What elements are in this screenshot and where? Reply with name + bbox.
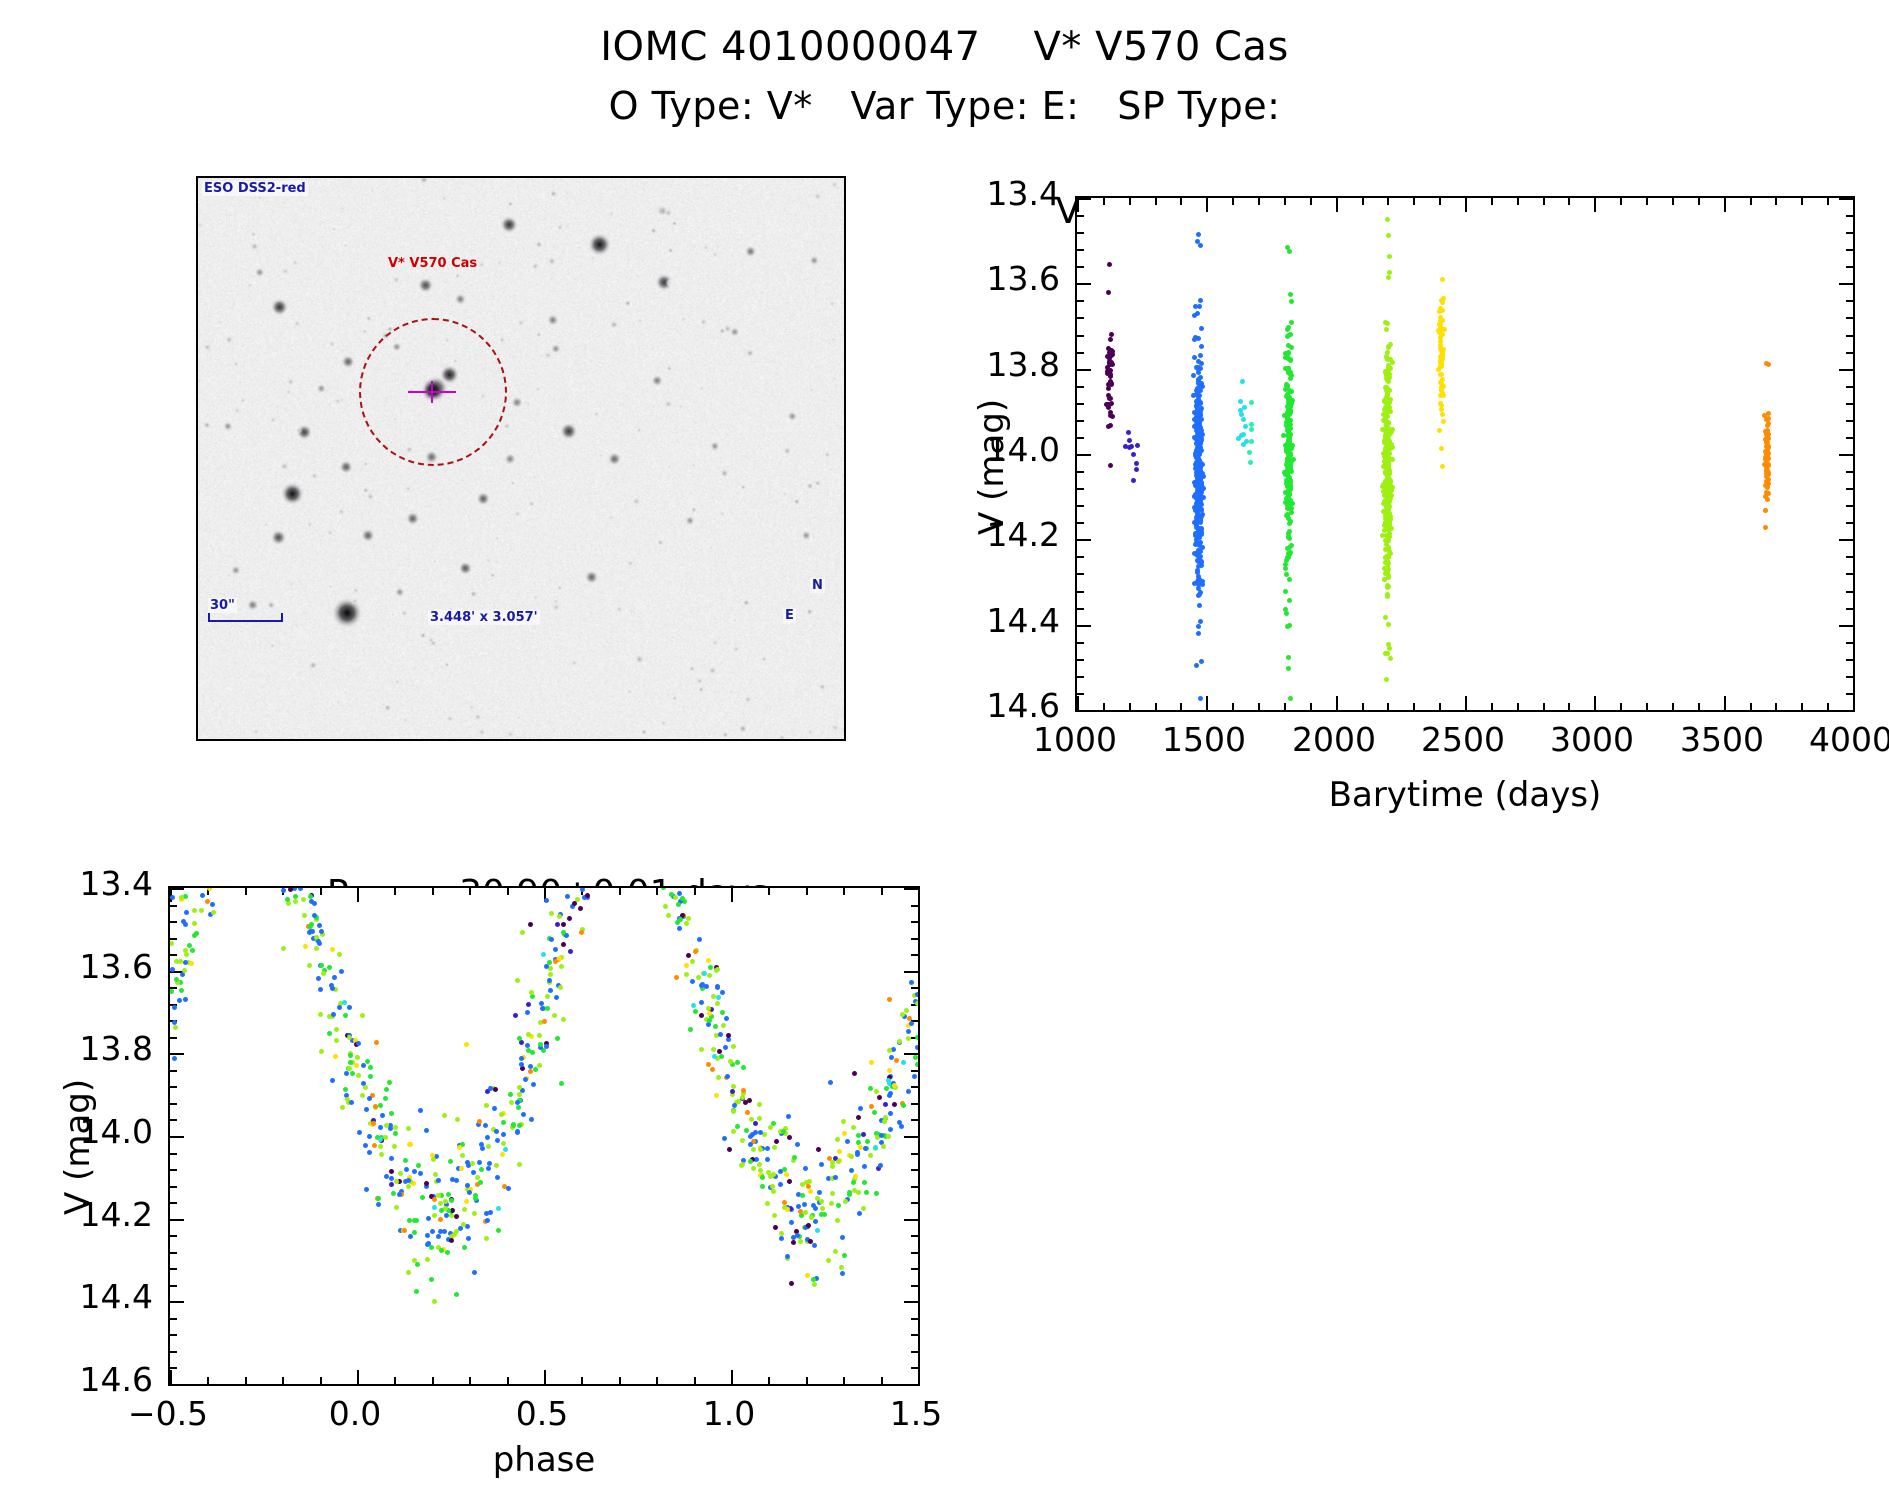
data-point <box>460 1153 465 1158</box>
data-point <box>1286 499 1291 504</box>
data-point <box>811 1203 816 1208</box>
data-point <box>455 1117 460 1122</box>
data-point <box>1134 461 1139 466</box>
data-point <box>787 1179 792 1184</box>
data-point <box>906 1036 911 1041</box>
time-series-x-minor-tick <box>1413 198 1415 205</box>
data-point <box>1134 467 1139 472</box>
data-point <box>424 1128 429 1133</box>
phase-plot-y-minor-tick <box>170 1318 177 1320</box>
time-series-x-tick <box>1853 198 1855 212</box>
data-point <box>170 895 175 900</box>
phase-plot-x-minor-tick <box>469 888 471 895</box>
data-point <box>393 1131 398 1136</box>
data-point <box>1440 412 1445 417</box>
data-point <box>449 1198 454 1203</box>
phase-plot-y-minor-tick <box>911 1252 918 1254</box>
phase-plot-y-tick <box>170 1136 184 1138</box>
data-point <box>696 975 701 980</box>
time-series-y-minor-tick <box>1846 335 1853 337</box>
data-point <box>1387 646 1392 651</box>
phase-plot-x-minor-tick <box>768 1377 770 1384</box>
data-point <box>378 1144 383 1149</box>
data-point <box>1439 446 1444 451</box>
data-point <box>1439 403 1444 408</box>
data-point <box>169 941 174 946</box>
time-series-y-minor-tick <box>1846 386 1853 388</box>
data-point <box>835 1137 840 1142</box>
phase-plot-y-minor-tick <box>911 921 918 923</box>
data-point <box>580 887 585 892</box>
data-point <box>426 1216 431 1221</box>
phase-plot-y-minor-tick <box>911 1186 918 1188</box>
data-point <box>337 1005 342 1010</box>
data-point <box>519 1056 524 1061</box>
data-point <box>1249 400 1254 405</box>
data-point <box>1198 696 1203 701</box>
data-point <box>791 1240 796 1245</box>
data-point <box>735 1124 740 1129</box>
data-point <box>869 1104 874 1109</box>
phase-plot-x-tick <box>731 888 733 902</box>
data-point <box>741 1065 746 1070</box>
time-series-x-minor-tick <box>1620 198 1622 205</box>
data-point <box>841 1119 846 1124</box>
data-point <box>1286 666 1291 671</box>
data-point <box>380 1113 385 1118</box>
phase-plot-y-tick-label: 14.4 <box>0 1277 153 1316</box>
data-point <box>716 995 721 1000</box>
data-point <box>1386 426 1391 431</box>
data-point <box>493 1087 498 1092</box>
time-series-plot-area[interactable] <box>1075 196 1855 712</box>
data-point <box>1241 417 1246 422</box>
data-point <box>1197 424 1202 429</box>
data-point <box>861 1132 866 1137</box>
data-point <box>484 1211 489 1216</box>
data-point <box>753 1130 758 1135</box>
data-point <box>398 1171 403 1176</box>
data-point <box>827 1156 832 1161</box>
data-point <box>318 1012 323 1017</box>
data-point <box>472 1270 477 1275</box>
data-point <box>807 1179 812 1184</box>
data-point <box>312 913 317 918</box>
data-point <box>184 952 189 957</box>
data-point <box>773 1225 778 1230</box>
data-point <box>553 947 558 952</box>
data-point <box>180 972 185 977</box>
data-point <box>765 1201 770 1206</box>
time-series-y-minor-tick <box>1846 573 1853 575</box>
data-point <box>748 1134 753 1139</box>
time-series-x-minor-tick <box>1698 198 1700 205</box>
data-point <box>444 1213 449 1218</box>
data-point <box>878 1163 883 1168</box>
data-point <box>293 899 298 904</box>
time-series-x-minor-tick <box>1750 198 1752 205</box>
data-point <box>901 1103 906 1108</box>
data-point <box>183 894 188 899</box>
data-point <box>454 1178 459 1183</box>
time-series-y-minor-tick <box>1846 300 1853 302</box>
data-point <box>686 953 691 958</box>
time-series-y-minor-tick <box>1846 693 1853 695</box>
data-point <box>1126 430 1131 435</box>
data-point <box>192 921 197 926</box>
data-point <box>1249 422 1254 427</box>
data-point <box>450 1177 455 1182</box>
phase-plot-x-minor-tick <box>432 1377 434 1384</box>
phase-plot-y-minor-tick <box>911 1070 918 1072</box>
data-point <box>707 1011 712 1016</box>
data-point <box>874 1191 879 1196</box>
data-point <box>348 1060 353 1065</box>
data-point <box>432 1205 437 1210</box>
time-series-y-minor-tick <box>1077 608 1084 610</box>
phase-plot-y-minor-tick <box>170 1169 177 1171</box>
time-series-x-minor-tick <box>1491 198 1493 205</box>
phase-plot-y-tick-label: 14.6 <box>0 1360 153 1399</box>
data-point <box>1199 659 1204 664</box>
time-series-x-minor-tick <box>1646 198 1648 205</box>
data-point <box>509 1100 514 1105</box>
phase-plot-x-tick-label: 0.5 <box>462 1394 622 1433</box>
data-point <box>354 1063 359 1068</box>
data-point <box>199 908 204 913</box>
data-point <box>552 1013 557 1018</box>
data-point <box>1198 243 1203 248</box>
data-point <box>561 1017 566 1022</box>
data-point <box>1384 327 1389 332</box>
data-point <box>1197 526 1202 531</box>
data-point <box>541 952 546 957</box>
data-point <box>1192 313 1197 318</box>
data-point <box>1437 428 1442 433</box>
data-point <box>853 1174 858 1179</box>
data-point <box>408 1234 413 1239</box>
data-point <box>330 1078 335 1083</box>
data-point <box>751 1166 756 1171</box>
phase-plot-area[interactable] <box>168 886 920 1386</box>
data-point <box>757 1116 762 1121</box>
data-point <box>415 1262 420 1267</box>
data-point <box>805 1273 810 1278</box>
data-point <box>840 1235 845 1240</box>
data-point <box>1196 631 1201 636</box>
phase-plot-x-tick <box>357 1370 359 1384</box>
phase-plot-y-tick-label: 14.2 <box>0 1195 153 1234</box>
data-point <box>542 1019 547 1024</box>
data-point <box>819 1162 824 1167</box>
data-point <box>501 1132 506 1137</box>
data-point <box>865 1139 870 1144</box>
data-point <box>1439 361 1444 366</box>
data-point <box>350 1071 355 1076</box>
data-point <box>1388 656 1393 661</box>
phase-plot-x-minor-tick <box>469 1377 471 1384</box>
data-point <box>707 973 712 978</box>
data-point <box>1385 217 1390 222</box>
time-series-x-tick <box>1465 696 1467 710</box>
data-point <box>499 1112 504 1117</box>
data-point <box>706 1022 711 1027</box>
phase-plot-y-tick <box>904 1219 918 1221</box>
data-point <box>1380 427 1385 432</box>
data-point <box>868 1153 873 1158</box>
time-series-y-minor-tick <box>1077 471 1084 473</box>
data-point <box>521 1112 526 1117</box>
time-series-x-minor-tick <box>1232 703 1234 710</box>
data-point <box>343 1087 348 1092</box>
data-point <box>1240 379 1245 384</box>
data-point <box>1286 555 1291 560</box>
data-point <box>760 1175 765 1180</box>
data-point <box>531 1082 536 1087</box>
data-point <box>748 1159 753 1164</box>
data-point <box>347 1005 352 1010</box>
data-point <box>503 1147 508 1152</box>
data-point <box>828 1080 833 1085</box>
data-point <box>1129 444 1134 449</box>
data-point <box>1285 624 1290 629</box>
time-series-x-minor-tick <box>1284 198 1286 205</box>
data-point <box>172 1056 177 1061</box>
data-point <box>393 1125 398 1130</box>
data-point <box>877 1095 882 1100</box>
data-point <box>412 1230 417 1235</box>
data-point <box>478 1180 483 1185</box>
data-point <box>1198 353 1203 358</box>
data-point <box>526 1002 531 1007</box>
phase-plot-x-minor-tick <box>768 888 770 895</box>
data-point <box>555 1036 560 1041</box>
phase-plot-x-minor-tick <box>694 888 696 895</box>
data-point <box>436 1193 441 1198</box>
data-point <box>1193 304 1198 309</box>
time-series-y-minor-tick <box>1846 232 1853 234</box>
data-point <box>1243 424 1248 429</box>
data-point <box>360 1013 365 1018</box>
data-point <box>1285 546 1290 551</box>
data-point <box>757 1162 762 1167</box>
data-point <box>798 1239 803 1244</box>
time-series-y-minor-tick <box>1077 232 1084 234</box>
data-point <box>836 1203 841 1208</box>
data-point <box>449 1213 454 1218</box>
time-series-y-minor-tick <box>1077 573 1084 575</box>
data-point <box>795 1142 800 1147</box>
data-point <box>813 1219 818 1224</box>
data-point <box>808 1189 813 1194</box>
data-point <box>363 1143 368 1148</box>
data-point <box>906 1029 911 1034</box>
time-series-x-minor-tick <box>1310 198 1312 205</box>
data-point <box>288 887 293 892</box>
phase-plot-x-minor-tick <box>619 888 621 895</box>
data-point <box>372 1143 377 1148</box>
phase-plot-x-axis-label: phase <box>168 1440 920 1480</box>
phase-plot-y-minor-tick <box>911 954 918 956</box>
data-point <box>525 1010 530 1015</box>
time-series-x-minor-tick <box>1801 703 1803 710</box>
time-series-x-tick <box>1077 198 1079 212</box>
data-point <box>472 1211 477 1216</box>
data-point <box>515 1100 520 1105</box>
data-point <box>1192 435 1197 440</box>
data-point <box>515 978 520 983</box>
data-point <box>374 1040 379 1045</box>
phase-plot-x-minor-tick <box>245 1377 247 1384</box>
data-point <box>1127 438 1132 443</box>
data-point <box>1106 424 1111 429</box>
data-point <box>1288 550 1293 555</box>
data-point <box>1763 508 1768 513</box>
phase-plot-y-minor-tick <box>170 1070 177 1072</box>
data-point <box>888 1111 893 1116</box>
data-point <box>693 949 698 954</box>
data-point <box>710 1067 715 1072</box>
phase-plot-y-tick <box>904 1384 918 1386</box>
data-point <box>1389 488 1394 493</box>
data-point <box>1386 464 1391 469</box>
data-point <box>1197 603 1202 608</box>
data-point <box>501 1120 506 1125</box>
data-point <box>1386 344 1391 349</box>
time-series-x-tick <box>1077 696 1079 710</box>
data-point <box>864 1190 869 1195</box>
data-point <box>803 1210 808 1215</box>
data-point <box>883 1102 888 1107</box>
data-point <box>337 952 342 957</box>
data-point <box>533 1067 538 1072</box>
data-point <box>557 956 562 961</box>
data-point <box>1288 292 1293 297</box>
data-point <box>915 1035 920 1040</box>
data-point <box>470 1161 475 1166</box>
time-series-x-minor-tick <box>1491 703 1493 710</box>
data-point <box>857 1211 862 1216</box>
data-point <box>663 904 668 909</box>
phase-plot-y-tick <box>904 1136 918 1138</box>
phase-plot-y-minor-tick <box>911 987 918 989</box>
phase-plot-y-minor-tick <box>170 1285 177 1287</box>
data-point <box>1387 531 1392 536</box>
data-point <box>887 997 892 1002</box>
time-series-x-minor-tick <box>1672 703 1674 710</box>
data-point <box>862 1180 867 1185</box>
data-point <box>1764 444 1769 449</box>
time-series-x-minor-tick <box>1180 198 1182 205</box>
phase-plot-y-minor-tick <box>911 1153 918 1155</box>
data-point <box>517 1036 522 1041</box>
data-point <box>544 898 549 903</box>
time-series-y-minor-tick <box>1846 659 1853 661</box>
data-point <box>863 1146 868 1151</box>
data-point <box>721 1023 726 1028</box>
data-point <box>431 1157 436 1162</box>
data-point <box>826 1258 831 1263</box>
data-point <box>1191 373 1196 378</box>
data-point <box>803 1166 808 1171</box>
data-point <box>376 1202 381 1207</box>
time-series-x-minor-tick <box>1232 198 1234 205</box>
time-series-x-tick <box>1465 198 1467 212</box>
data-point <box>182 968 187 973</box>
data-point <box>199 886 204 888</box>
time-series-y-minor-tick <box>1077 693 1084 695</box>
time-series-x-minor-tick <box>1155 703 1157 710</box>
data-point <box>408 1142 413 1147</box>
time-series-x-minor-tick <box>1517 703 1519 710</box>
data-point <box>1438 346 1443 351</box>
data-point <box>720 990 725 995</box>
data-point <box>403 1158 408 1163</box>
phase-plot-y-minor-tick <box>911 1268 918 1270</box>
data-point <box>442 1113 447 1118</box>
data-point <box>404 1167 409 1172</box>
data-point <box>414 1289 419 1294</box>
data-point <box>484 1103 489 1108</box>
data-point <box>1110 414 1115 419</box>
data-point <box>1200 432 1205 437</box>
data-point <box>1108 463 1113 468</box>
phase-plot-y-minor-tick <box>170 1153 177 1155</box>
data-point <box>707 1018 712 1023</box>
sky-image-panel[interactable]: ESO DSS2-red V* V570 Cas 30" 3.448' x 3.… <box>196 176 846 741</box>
data-point <box>1386 233 1391 238</box>
data-point <box>720 1010 725 1015</box>
data-point <box>1384 677 1389 682</box>
data-point <box>1385 391 1390 396</box>
data-point <box>475 1175 480 1180</box>
time-series-x-minor-tick <box>1155 198 1157 205</box>
data-point <box>886 1134 891 1139</box>
data-point <box>188 886 193 888</box>
time-series-y-minor-tick <box>1077 386 1084 388</box>
data-point <box>872 1110 877 1115</box>
data-point <box>1196 564 1201 569</box>
data-point <box>1131 452 1136 457</box>
data-point <box>715 985 720 990</box>
data-point <box>477 1160 482 1165</box>
data-point <box>888 1091 893 1096</box>
data-point <box>669 892 674 897</box>
data-point <box>1763 525 1768 530</box>
data-point <box>302 913 307 918</box>
data-point <box>192 933 197 938</box>
data-point <box>757 1102 762 1107</box>
data-point <box>517 1162 522 1167</box>
time-series-y-minor-tick <box>1077 352 1084 354</box>
time-series-y-minor-tick <box>1846 488 1853 490</box>
data-point <box>1247 450 1252 455</box>
data-point <box>740 1162 745 1167</box>
data-point <box>433 1172 438 1177</box>
scale-bar-tick-right <box>281 613 283 622</box>
data-point <box>1286 428 1291 433</box>
data-point <box>745 1110 750 1115</box>
data-point <box>758 1147 763 1152</box>
phase-plot-y-tick <box>904 888 918 890</box>
data-point <box>740 1138 745 1143</box>
time-series-x-minor-tick <box>1568 703 1570 710</box>
data-point <box>579 930 584 935</box>
data-point <box>840 1271 845 1276</box>
data-point <box>179 895 184 900</box>
phase-plot-y-minor-tick <box>170 1252 177 1254</box>
data-point <box>554 995 559 1000</box>
